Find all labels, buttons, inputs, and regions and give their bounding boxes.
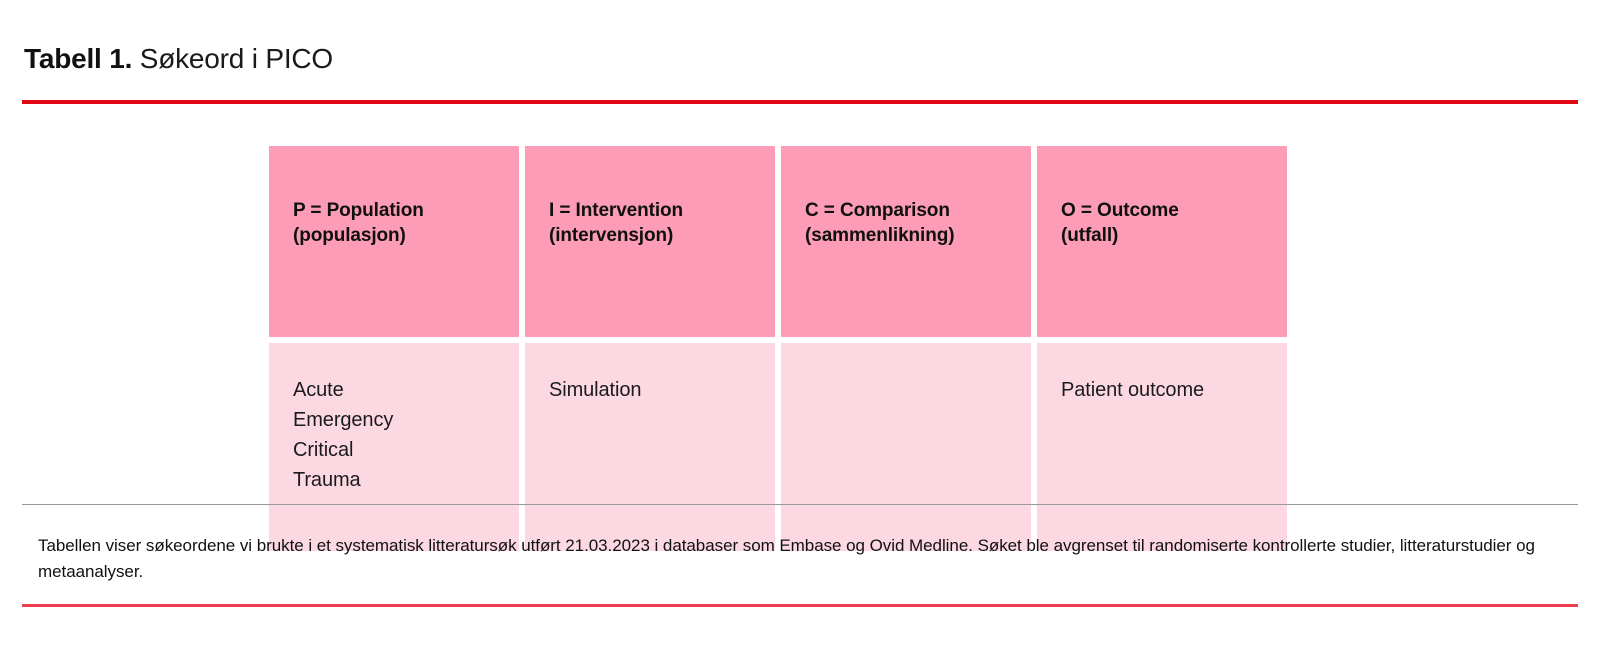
column-header-intervention-line2: (intervensjon) [549,223,775,248]
caption-top-divider [22,504,1578,505]
table-body: Acute Emergency Critical Trauma Simulati… [269,343,1287,551]
cell-population-line3: Critical [293,435,519,465]
column-header-intervention: I = Intervention (intervensjon) [525,146,775,337]
pico-table-container: P = Population (populasjon) I = Interven… [269,146,1299,466]
column-header-comparison-line1: C = Comparison [805,198,1031,223]
table-caption: Tabellen viser søkeordene vi brukte i et… [38,533,1538,585]
column-header-population-line2: (populasjon) [293,223,519,248]
column-header-comparison-line2: (sammenlikning) [805,223,1031,248]
table-head: P = Population (populasjon) I = Interven… [269,146,1287,337]
cell-outcome-lines: Patient outcome [1061,375,1287,405]
column-header-outcome-line2: (utfall) [1061,223,1287,248]
column-header-comparison-lines: C = Comparison (sammenlikning) [805,198,1031,248]
column-header-comparison: C = Comparison (sammenlikning) [781,146,1031,337]
bottom-rule-divider [22,604,1578,607]
top-rule-divider [22,100,1578,104]
column-header-outcome-line1: O = Outcome [1061,198,1287,223]
table-figure: Tabell 1. Søkeord i PICO P = Population … [0,0,1600,662]
column-header-population-lines: P = Population (populasjon) [293,198,519,248]
table-title-text: Søkeord i PICO [132,43,333,74]
column-header-population: P = Population (populasjon) [269,146,519,337]
cell-population-line2: Emergency [293,405,519,435]
table-row: Acute Emergency Critical Trauma Simulati… [269,343,1287,551]
cell-outcome-line1: Patient outcome [1061,375,1287,405]
cell-population-line4: Trauma [293,465,519,495]
column-header-intervention-line1: I = Intervention [549,198,775,223]
cell-population-lines: Acute Emergency Critical Trauma [293,375,519,495]
table-header-row: P = Population (populasjon) I = Interven… [269,146,1287,337]
page-title: Tabell 1. Søkeord i PICO [24,42,1576,76]
cell-intervention-line1: Simulation [549,375,775,405]
pico-table: P = Population (populasjon) I = Interven… [263,140,1293,557]
cell-population-keywords: Acute Emergency Critical Trauma [269,343,519,551]
column-header-intervention-lines: I = Intervention (intervensjon) [549,198,775,248]
cell-population-line1: Acute [293,375,519,405]
column-header-outcome: O = Outcome (utfall) [1037,146,1287,337]
column-header-outcome-lines: O = Outcome (utfall) [1061,198,1287,248]
column-header-population-line1: P = Population [293,198,519,223]
table-number-label: Tabell 1. [24,43,132,74]
cell-comparison-keywords [781,343,1031,551]
cell-outcome-keywords: Patient outcome [1037,343,1287,551]
cell-intervention-keywords: Simulation [525,343,775,551]
cell-intervention-lines: Simulation [549,375,775,405]
